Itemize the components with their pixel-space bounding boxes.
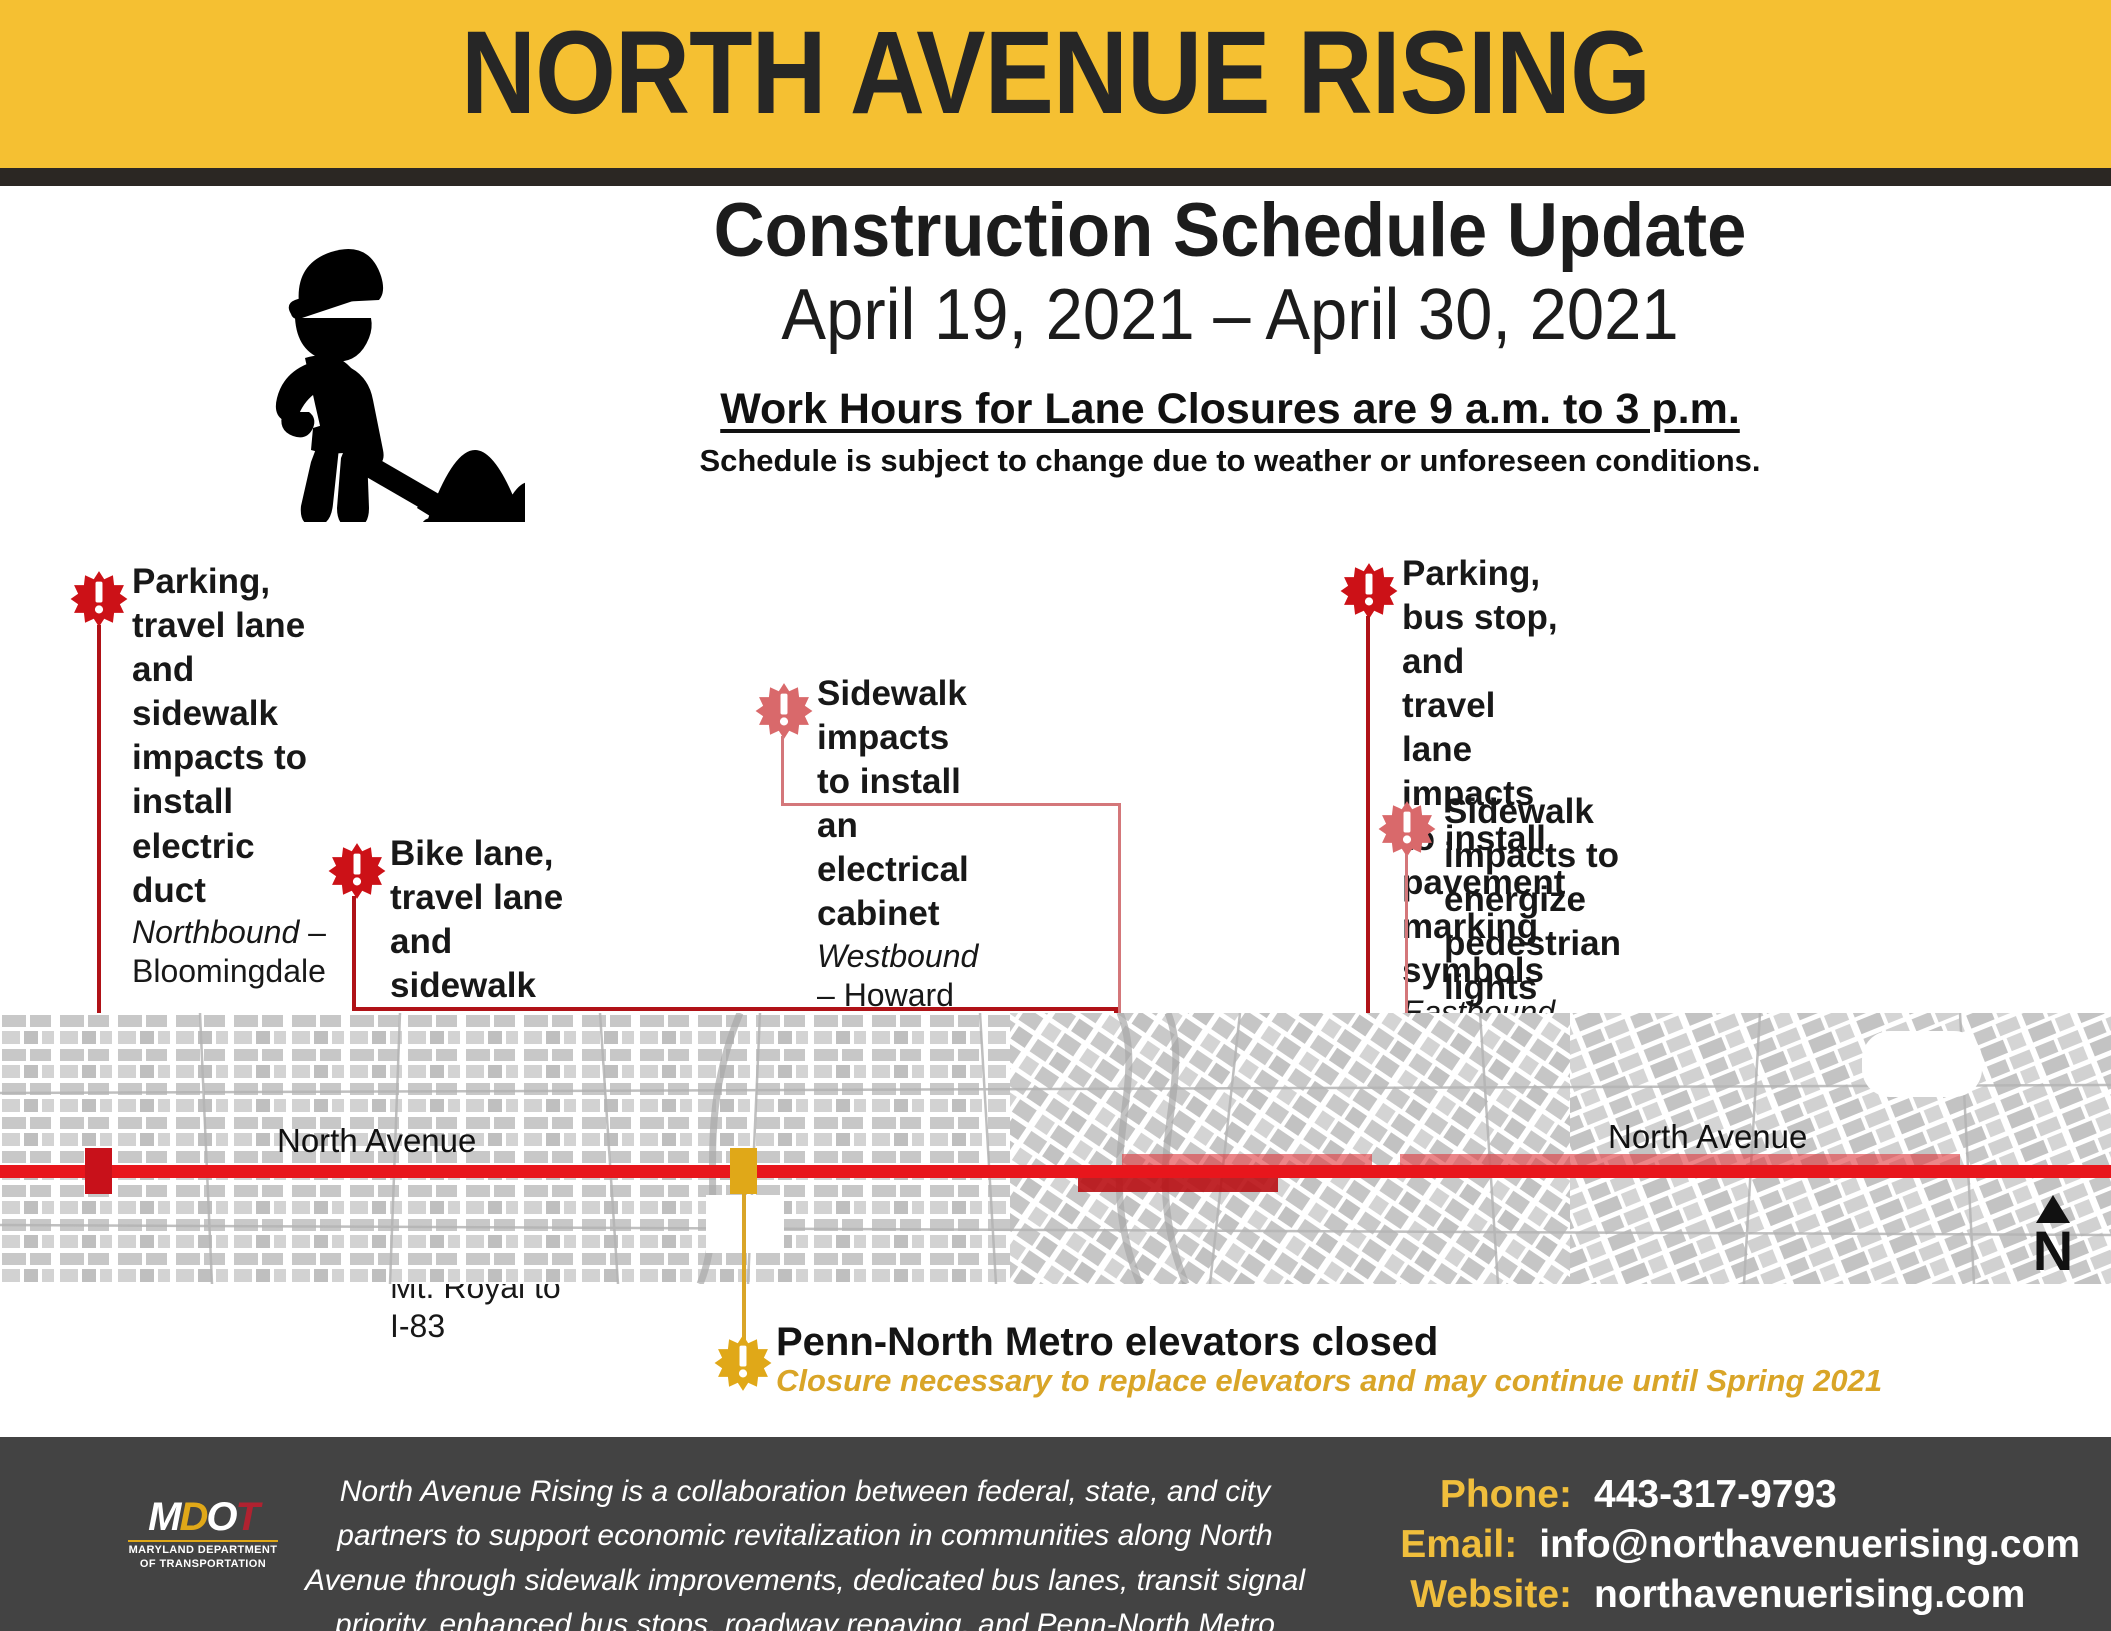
penn-north-subtitle: Closure necessary to replace elevators a… [776,1364,1882,1399]
alert-burst-icon [328,842,386,900]
leader-line-penn-north [742,1194,746,1342]
north-avenue-corridor-line [0,1165,2111,1178]
callout-title: impacts to install electric duct [132,736,326,912]
map-node-bloomingdale [85,1148,112,1194]
contact-row-website: Website: northavenuerising.com [1380,1573,2080,1617]
contact-value-phone[interactable]: 443-317-9793 [1594,1473,1837,1517]
page-title: Construction Schedule Update [551,192,1909,270]
callout-location: Northbound – Bloomingdale [132,913,326,991]
mdot-letter-d: D [179,1495,206,1539]
alert-burst-icon [714,1334,772,1392]
north-letter: N [2020,1225,2086,1277]
title-block: Construction Schedule Update April 19, 2… [500,192,1960,479]
callout-title: Sidewalk impacts to energize [1444,790,1621,922]
callout-title: Parking, travel lane and sidewalk [132,560,326,736]
alert-burst-icon [1378,800,1436,858]
leader-line-cabinet-v1 [781,736,784,805]
alert-burst-icon [70,570,128,628]
construction-worker-icon [195,222,525,522]
banner-divider [0,168,2111,186]
north-arrow-icon: N [2020,1195,2086,1277]
map-node-penn-north [730,1148,757,1194]
contact-value-email[interactable]: info@northavenuerising.com [1539,1523,2080,1567]
map-label-north-avenue-left: North Avenue [277,1122,476,1160]
callout-title: Parking, bus stop, and travel lane [1402,552,1565,772]
contact-label-email: Email: [1380,1523,1539,1567]
header-banner: NORTH AVENUE RISING [0,0,2111,168]
contact-block: Phone: 443-317-9793 Email: info@northave… [1380,1473,2080,1623]
mdot-wordmark: MDOT [128,1497,278,1537]
alert-burst-icon [755,682,813,740]
leader-line-delineators-v1 [352,896,356,1010]
mdot-agency-line-2: OF TRANSPORTATION [128,1558,278,1572]
banner-title: NORTH AVENUE RISING [127,14,1985,132]
contact-row-phone: Phone: 443-317-9793 [1380,1473,2080,1517]
contact-label-website: Website: [1380,1573,1594,1617]
contact-label-phone: Phone: [1380,1473,1594,1517]
callout-title: Sidewalk impacts to install [817,672,978,804]
callout-direction: Northbound [132,914,299,950]
contact-value-website[interactable]: northavenuerising.com [1594,1573,2025,1617]
mdot-letter-t: T [235,1495,257,1539]
work-hours-notice: Work Hours for Lane Closures are 9 a.m. … [500,385,1960,434]
callout-title: pedestrian lights [1444,922,1621,1010]
mdot-agency-line-1: MARYLAND DEPARTMENT [128,1544,278,1558]
leader-line-delineators-h [352,1007,1118,1011]
penn-north-title: Penn-North Metro elevators closed [776,1320,1882,1364]
callout-title: an electrical cabinet [817,804,978,936]
schedule-disclaimer: Schedule is subject to change due to wea… [500,443,1960,479]
callout-direction: Westbound [817,938,978,974]
mdot-divider [128,1540,278,1542]
contact-row-email: Email: info@northavenuerising.com [1380,1523,2080,1567]
mdot-logo: MDOT MARYLAND DEPARTMENT OF TRANSPORTATI… [128,1497,278,1572]
leader-line-cabinet-h [781,803,1121,806]
mdot-letter-m: M [148,1495,179,1539]
map-label-north-avenue-right: North Avenue [1608,1118,1807,1156]
date-range: April 19, 2021 – April 30, 2021 [551,276,1909,355]
poster-root: NORTH AVENUE RISING [0,0,2111,1631]
mdot-letter-o: O [206,1495,235,1539]
program-description: North Avenue Rising is a collaboration b… [300,1470,1310,1631]
alert-burst-icon [1340,562,1398,620]
